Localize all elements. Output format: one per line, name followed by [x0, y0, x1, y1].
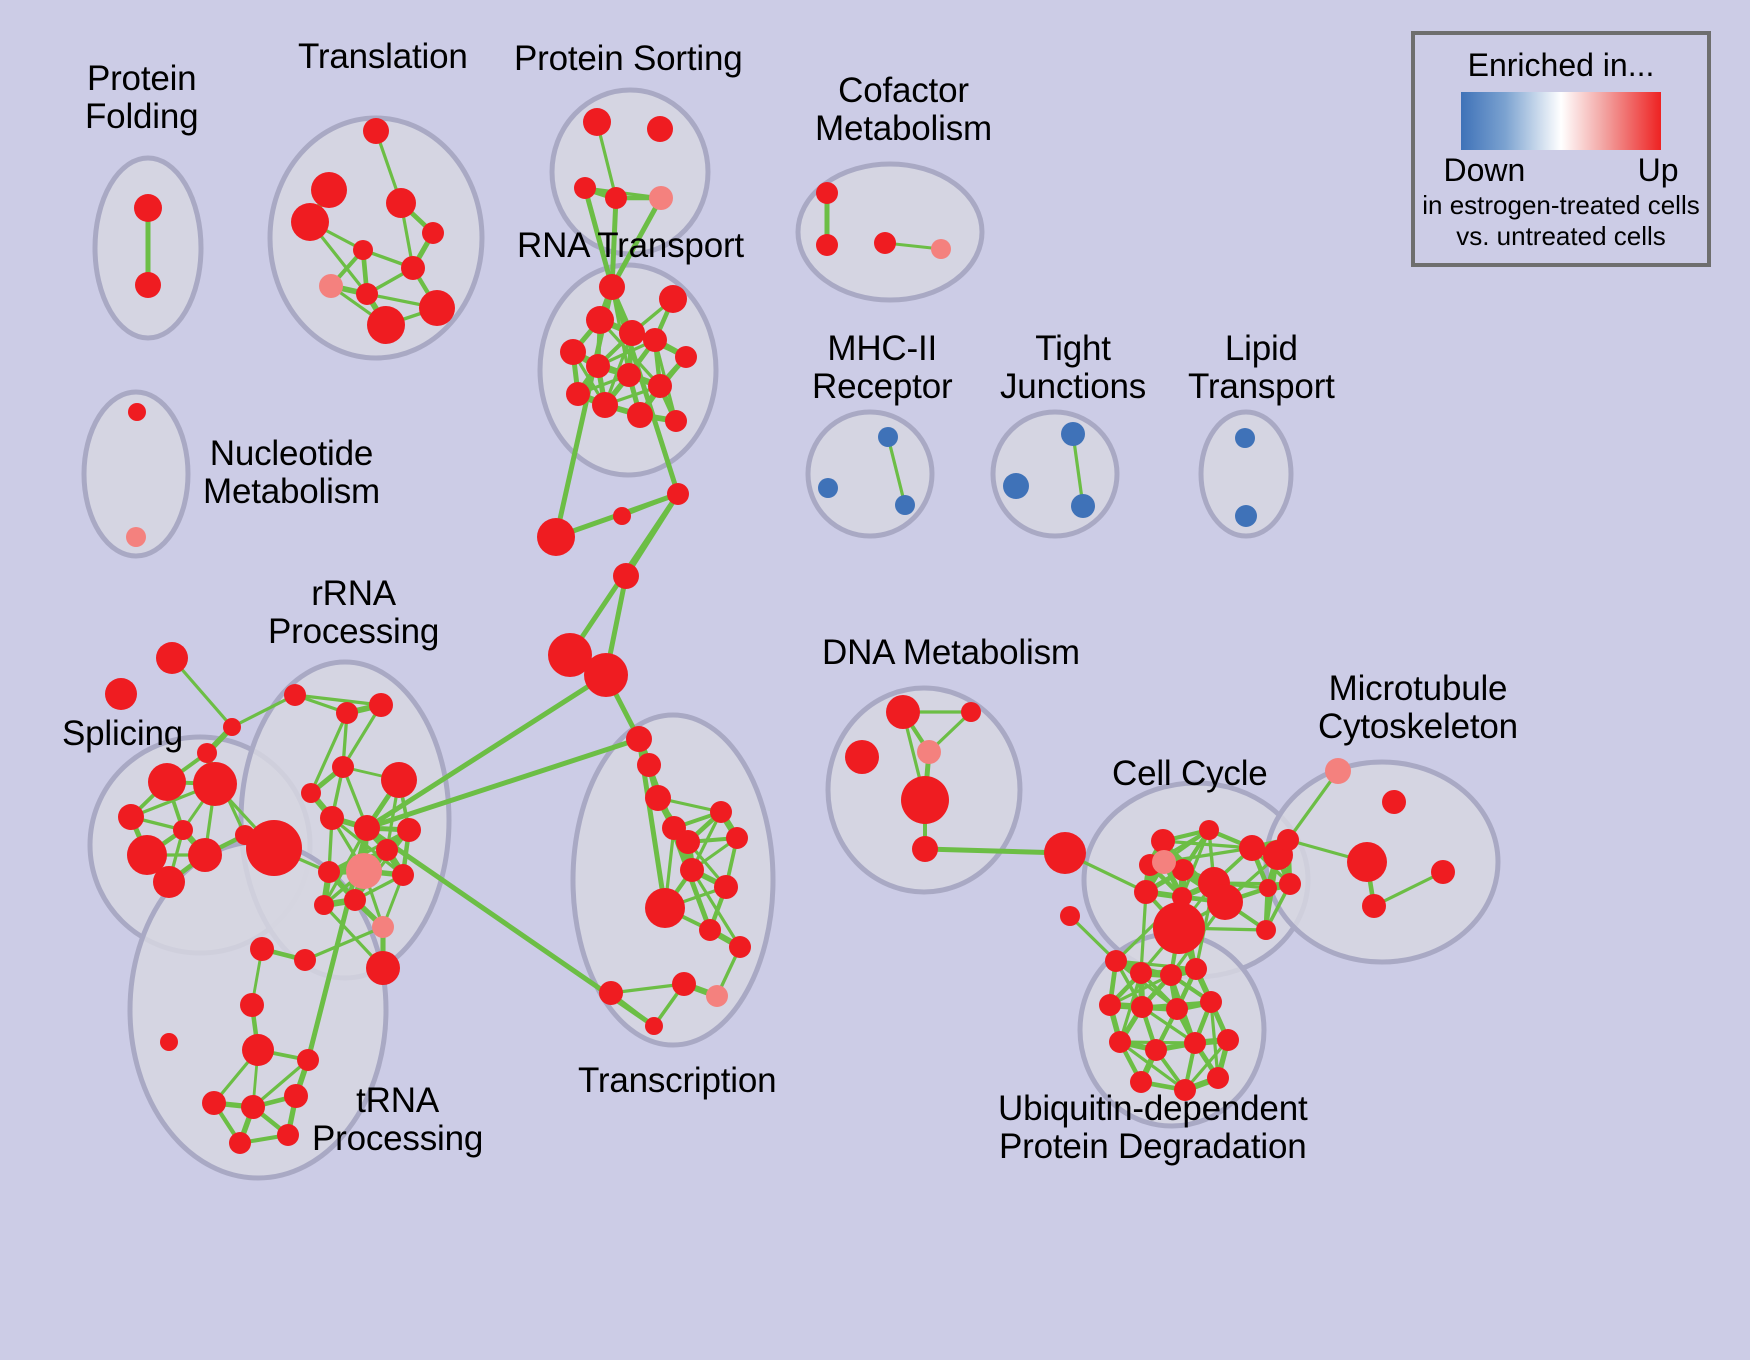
gene-set-node[interactable] [1259, 879, 1277, 897]
cluster-label-cofactor-metabolism: Cofactor Metabolism [815, 72, 992, 148]
gene-set-node[interactable] [118, 804, 144, 830]
gene-set-node[interactable] [818, 478, 838, 498]
gene-set-node[interactable] [627, 402, 653, 428]
gene-set-node[interactable] [816, 182, 838, 204]
gene-set-node[interactable] [710, 801, 732, 823]
gene-set-node[interactable] [381, 762, 417, 798]
gene-set-node[interactable] [193, 762, 237, 806]
gene-set-node[interactable] [1152, 850, 1176, 874]
cluster-label-nucleotide-metabolism: Nucleotide Metabolism [203, 435, 380, 511]
gene-set-node[interactable] [356, 283, 378, 305]
gene-set-node[interactable] [643, 328, 667, 352]
gene-set-node[interactable] [1217, 1029, 1239, 1051]
gene-set-node[interactable] [586, 306, 614, 334]
cluster-label-rrna-processing: rRNA Processing [268, 575, 439, 651]
gene-set-node[interactable] [419, 290, 455, 326]
gene-set-node[interactable] [586, 354, 610, 378]
gene-set-node[interactable] [645, 785, 671, 811]
gene-set-node[interactable] [1160, 964, 1182, 986]
gene-set-node[interactable] [319, 274, 343, 298]
gene-set-node[interactable] [1130, 962, 1152, 984]
gene-set-node[interactable] [566, 382, 590, 406]
gene-set-node[interactable] [284, 684, 306, 706]
gene-set-node[interactable] [346, 853, 382, 889]
gene-set-node[interactable] [645, 888, 685, 928]
gene-set-node[interactable] [284, 1084, 308, 1108]
gene-set-node[interactable] [1207, 1067, 1229, 1089]
gene-set-node[interactable] [1105, 950, 1127, 972]
gene-set-node[interactable] [645, 1017, 663, 1035]
gene-set-node[interactable] [277, 1124, 299, 1146]
cluster-label-dna-metabolism: DNA Metabolism [822, 634, 1080, 672]
gene-set-node[interactable] [1235, 428, 1255, 448]
gene-set-node[interactable] [160, 1033, 178, 1051]
gene-set-node[interactable] [1239, 835, 1265, 861]
gene-set-node[interactable] [1362, 894, 1386, 918]
gene-set-node[interactable] [1256, 920, 1276, 940]
gene-set-node[interactable] [241, 1095, 265, 1119]
network-figure: Protein FoldingTranslationNucleotide Met… [0, 0, 1750, 1360]
gene-set-node[interactable] [291, 203, 329, 241]
gene-set-node[interactable] [1153, 902, 1205, 954]
gene-set-node[interactable] [397, 818, 421, 842]
cluster-label-transcription: Transcription [578, 1062, 776, 1100]
cluster-label-mhc-ii-receptor: MHC-II Receptor [812, 330, 952, 406]
gene-set-node[interactable] [931, 239, 951, 259]
legend-high-label: Up [1638, 152, 1679, 189]
gene-set-node[interactable] [699, 919, 721, 941]
gene-set-node[interactable] [250, 937, 274, 961]
gene-set-node[interactable] [1184, 1032, 1206, 1054]
gene-set-node[interactable] [197, 743, 217, 763]
gene-set-node[interactable] [1134, 880, 1158, 904]
gene-set-node[interactable] [353, 240, 373, 260]
gene-set-node[interactable] [372, 916, 394, 938]
gene-set-node[interactable] [613, 507, 631, 525]
gene-set-node[interactable] [320, 806, 344, 830]
gene-set-node[interactable] [676, 830, 700, 854]
gene-set-node[interactable] [886, 695, 920, 729]
legend-title: Enriched in... [1415, 47, 1707, 84]
legend-endpoints: Down Up [1444, 152, 1679, 189]
gene-set-node[interactable] [560, 339, 586, 365]
gene-set-node[interactable] [105, 678, 137, 710]
gene-set-node[interactable] [318, 861, 340, 883]
gene-set-node[interactable] [878, 427, 898, 447]
gene-set-node[interactable] [336, 702, 358, 724]
gene-set-node[interactable] [229, 1132, 251, 1154]
gene-set-node[interactable] [648, 374, 672, 398]
gene-set-node[interactable] [1044, 832, 1086, 874]
gene-set-node[interactable] [1185, 958, 1207, 980]
cluster-label-tight-junctions: Tight Junctions [1000, 330, 1146, 406]
gene-set-node[interactable] [816, 234, 838, 256]
gene-set-node[interactable] [314, 895, 334, 915]
legend-panel: Enriched in... Down Up in estrogen-treat… [1411, 31, 1711, 267]
cluster-label-translation: Translation [298, 38, 468, 76]
gene-set-node[interactable] [617, 363, 641, 387]
gene-set-node[interactable] [354, 815, 380, 841]
cluster-label-splicing: Splicing [62, 715, 183, 753]
gene-set-node[interactable] [1382, 790, 1406, 814]
gene-set-node[interactable] [1199, 820, 1219, 840]
cluster-label-protein-sorting: Protein Sorting [514, 40, 743, 78]
gene-set-node[interactable] [242, 1034, 274, 1066]
gene-set-node[interactable] [1235, 505, 1257, 527]
gene-set-node[interactable] [1277, 829, 1299, 851]
gene-set-node[interactable] [128, 403, 146, 421]
gene-set-node[interactable] [665, 410, 687, 432]
gene-set-node[interactable] [223, 718, 241, 736]
gene-set-node[interactable] [901, 776, 949, 824]
cluster-label-microtubule-cytoskeleton: Microtubule Cytoskeleton [1318, 670, 1518, 746]
gene-set-node[interactable] [845, 740, 879, 774]
gene-set-node[interactable] [647, 116, 673, 142]
gene-set-node[interactable] [332, 756, 354, 778]
gene-set-node[interactable] [1325, 758, 1351, 784]
legend-subtitle-line1: in estrogen-treated cells [1415, 191, 1707, 220]
gene-set-node[interactable] [599, 981, 623, 1005]
gene-set-node[interactable] [605, 187, 627, 209]
gene-set-node[interactable] [599, 274, 625, 300]
gene-set-node[interactable] [246, 820, 302, 876]
gene-set-node[interactable] [1347, 842, 1387, 882]
cluster-label-rna-transport: RNA Transport [517, 227, 744, 265]
gene-set-node[interactable] [1060, 906, 1080, 926]
gene-set-node[interactable] [1109, 1031, 1131, 1053]
gene-set-node[interactable] [367, 306, 405, 344]
gene-set-node[interactable] [202, 1091, 226, 1115]
cluster-label-trna-processing: tRNA Processing [312, 1082, 483, 1158]
gene-set-node[interactable] [583, 108, 611, 136]
gene-set-node[interactable] [1151, 829, 1175, 853]
gene-set-node[interactable] [401, 256, 425, 280]
gene-set-node[interactable] [1207, 884, 1243, 920]
gene-set-node[interactable] [422, 222, 444, 244]
gene-set-node[interactable] [1431, 860, 1455, 884]
gene-set-node[interactable] [714, 875, 738, 899]
gene-set-node[interactable] [297, 1049, 319, 1071]
gene-set-node[interactable] [294, 949, 316, 971]
gene-set-node[interactable] [574, 177, 596, 199]
gene-set-node[interactable] [311, 172, 347, 208]
gene-set-node[interactable] [667, 483, 689, 505]
gene-set-node[interactable] [1200, 991, 1222, 1013]
gene-set-node[interactable] [961, 702, 981, 722]
gene-set-node[interactable] [135, 272, 161, 298]
gene-set-node[interactable] [173, 820, 193, 840]
gene-set-node[interactable] [301, 783, 321, 803]
cluster-label-protein-folding: Protein Folding [85, 60, 198, 136]
gene-set-node[interactable] [1279, 873, 1301, 895]
gene-set-node[interactable] [917, 740, 941, 764]
gene-set-node[interactable] [680, 858, 704, 882]
gene-set-node[interactable] [726, 827, 748, 849]
gene-set-node[interactable] [126, 527, 146, 547]
cluster-label-ubiquitin-protein-degradation: Ubiquitin-dependent Protein Degradation [998, 1090, 1308, 1166]
legend-low-label: Down [1444, 152, 1526, 189]
gene-set-node[interactable] [1166, 998, 1188, 1020]
gene-set-node[interactable] [1061, 422, 1085, 446]
gene-set-node[interactable] [386, 188, 416, 218]
gene-set-node[interactable] [1131, 996, 1153, 1018]
legend-color-gradient [1461, 92, 1661, 150]
gene-set-node[interactable] [626, 726, 652, 752]
gene-set-node[interactable] [240, 993, 264, 1017]
gene-set-node[interactable] [148, 763, 186, 801]
cluster-label-cell-cycle: Cell Cycle [1112, 755, 1268, 793]
gene-set-node[interactable] [369, 693, 393, 717]
gene-set-node[interactable] [363, 118, 389, 144]
gene-set-node[interactable] [376, 839, 398, 861]
gene-set-node[interactable] [584, 653, 628, 697]
gene-set-node[interactable] [153, 866, 185, 898]
gene-set-node[interactable] [188, 838, 222, 872]
gene-set-node[interactable] [613, 563, 639, 589]
cluster-blob-mhc-ii-receptor[interactable] [808, 412, 932, 536]
gene-set-node[interactable] [912, 836, 938, 862]
gene-set-node[interactable] [392, 864, 414, 886]
gene-set-node[interactable] [729, 936, 751, 958]
gene-set-node[interactable] [134, 194, 162, 222]
gene-set-node[interactable] [1099, 994, 1121, 1016]
gene-set-node[interactable] [874, 232, 896, 254]
gene-set-node[interactable] [537, 518, 575, 556]
gene-set-node[interactable] [344, 889, 366, 911]
gene-set-node[interactable] [672, 972, 696, 996]
gene-set-node[interactable] [649, 186, 673, 210]
gene-set-node[interactable] [1145, 1039, 1167, 1061]
gene-set-node[interactable] [366, 951, 400, 985]
legend-subtitle-line2: vs. untreated cells [1415, 222, 1707, 251]
cluster-label-lipid-transport: Lipid Transport [1188, 330, 1335, 406]
gene-set-node[interactable] [637, 753, 661, 777]
gene-set-node[interactable] [592, 392, 618, 418]
gene-set-node[interactable] [675, 346, 697, 368]
gene-set-node[interactable] [156, 642, 188, 674]
gene-set-node[interactable] [1003, 473, 1029, 499]
gene-set-node[interactable] [706, 985, 728, 1007]
gene-set-node[interactable] [895, 495, 915, 515]
gene-set-node[interactable] [619, 320, 645, 346]
gene-set-node[interactable] [1071, 494, 1095, 518]
gene-set-node[interactable] [659, 285, 687, 313]
